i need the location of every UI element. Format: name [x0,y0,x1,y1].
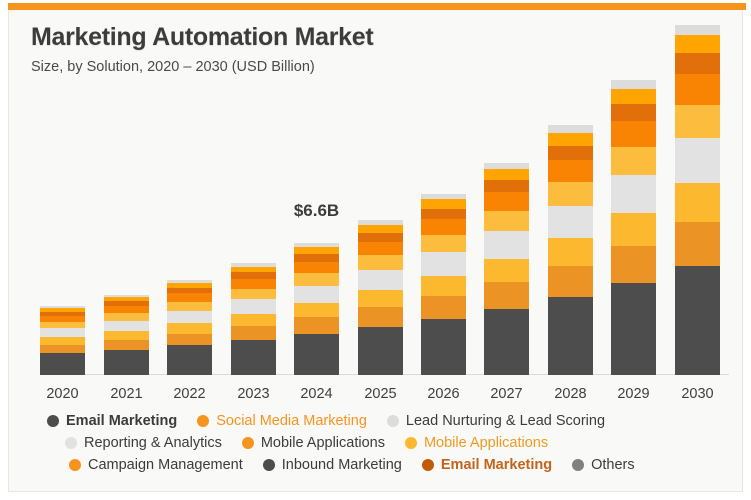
bar-segment[interactable] [484,309,529,375]
bar-segment[interactable] [484,192,529,211]
legend-marker-icon [387,415,399,427]
legend-item[interactable]: Email Marketing [422,458,552,473]
bar-segment[interactable] [167,311,212,323]
bar-2024[interactable] [294,243,339,375]
bar-segment[interactable] [294,273,339,285]
bar-segment[interactable] [167,293,212,301]
bar-segment[interactable] [611,104,656,121]
bar-segment[interactable] [548,238,593,265]
x-axis-tick-2022: 2022 [167,386,212,402]
chart-card: Marketing Automation Market Size, by Sol… [8,10,743,492]
bar-segment[interactable] [358,270,403,290]
chart-legend: Email MarketingSocial Media MarketingLea… [31,410,731,476]
legend-label: Social Media Marketing [216,414,367,429]
legend-item[interactable]: Inbound Marketing [263,458,402,473]
bar-segment[interactable] [611,213,656,245]
bar-segment[interactable] [40,328,85,337]
bar-segment[interactable] [675,105,720,138]
legend-row: Campaign ManagementInbound MarketingEmai… [31,454,731,476]
legend-row: Reporting & AnalyticsMobile Applications… [31,432,731,454]
bar-segment[interactable] [104,313,149,321]
legend-marker-icon [405,437,417,449]
bar-segment[interactable] [358,242,403,256]
bar-segment[interactable] [548,206,593,239]
bar-2030[interactable] [675,25,720,375]
legend-label: Campaign Management [88,458,243,473]
legend-item[interactable]: Social Media Marketing [197,414,367,429]
bar-segment[interactable] [548,266,593,297]
bar-segment[interactable] [231,340,276,375]
chart-card-frame: Marketing Automation Market Size, by Sol… [0,0,751,500]
chart-header: Marketing Automation Market Size, by Sol… [31,24,721,76]
bar-segment[interactable] [421,319,466,375]
x-axis-tick-2030: 2030 [675,386,720,402]
plot-area: $6.6B [31,92,729,384]
legend-label: Reporting & Analytics [84,436,222,451]
bar-segment[interactable] [611,246,656,283]
bar-segment[interactable] [548,146,593,160]
bar-2022[interactable] [167,280,212,375]
bar-segment[interactable] [548,133,593,146]
bar-segment[interactable] [611,147,656,175]
bar-segment[interactable] [167,345,212,375]
bar-segment[interactable] [167,334,212,346]
legend-item[interactable]: Others [572,458,635,473]
x-axis-tick-2028: 2028 [548,386,593,402]
bar-segment[interactable] [358,290,403,307]
legend-marker-icon [47,415,59,427]
bar-segment[interactable] [421,199,466,208]
legend-item[interactable]: Campaign Management [69,458,243,473]
bar-segment[interactable] [675,74,720,105]
bar-segment[interactable] [40,353,85,375]
bar-segment[interactable] [104,350,149,375]
bar-segment[interactable] [675,222,720,266]
bar-segment[interactable] [675,266,720,375]
bar-segment[interactable] [484,211,529,231]
bar-segment[interactable] [294,317,339,334]
bar-segment[interactable] [611,175,656,214]
bar-segment[interactable] [548,160,593,182]
legend-label: Others [591,458,635,473]
legend-marker-icon [572,459,584,471]
top-accent-bar [8,3,746,10]
bar-segment[interactable] [294,247,339,254]
bar-segment[interactable] [358,307,403,326]
x-axis-tick-2020: 2020 [40,386,85,402]
bar-segment[interactable] [104,321,149,331]
bar-segment[interactable] [675,35,720,53]
bar-segment[interactable] [421,219,466,235]
value-annotation: $6.6B [278,201,355,221]
bar-2029[interactable] [611,80,656,375]
bar-segment[interactable] [294,286,339,303]
x-axis-tick-2024: 2024 [294,386,339,402]
bar-segment[interactable] [675,25,720,36]
x-axis-tick-2029: 2029 [611,386,656,402]
bar-2028[interactable] [548,125,593,375]
bar-segment[interactable] [548,182,593,205]
bar-segment[interactable] [104,331,149,340]
legend-marker-icon [197,415,209,427]
x-axis-tick-2027: 2027 [484,386,529,402]
bar-segment[interactable] [611,121,656,147]
bar-segment[interactable] [548,297,593,375]
x-axis-tick-2021: 2021 [104,386,149,402]
bar-segment[interactable] [294,303,339,318]
bar-segment[interactable] [484,259,529,282]
bar-segment[interactable] [231,314,276,326]
legend-marker-icon [242,437,254,449]
legend-item[interactable]: Reporting & Analytics [65,436,222,451]
bar-2021[interactable] [104,295,149,375]
bar-segment[interactable] [358,225,403,233]
legend-label: Email Marketing [441,458,552,473]
bar-segment[interactable] [421,276,466,296]
legend-label: Email Marketing [66,414,177,429]
legend-label: Mobile Applications [261,436,385,451]
bar-segment[interactable] [167,302,212,311]
bar-2023[interactable] [231,263,276,375]
bar-segment[interactable] [484,169,529,180]
x-axis-tick-2026: 2026 [421,386,466,402]
bar-segment[interactable] [231,299,276,314]
bar-segment[interactable] [611,283,656,375]
bar-segment[interactable] [104,340,149,350]
bar-2020[interactable] [40,306,85,375]
legend-label: Mobile Applications [424,436,548,451]
x-axis-tick-2025: 2025 [358,386,403,402]
legend-marker-icon [263,459,275,471]
bar-segment[interactable] [611,89,656,104]
bar-segment[interactable] [167,323,212,333]
bar-2025[interactable] [358,220,403,375]
bar-segment[interactable] [421,252,466,276]
legend-row: Email MarketingSocial Media MarketingLea… [31,410,731,432]
bar-segment[interactable] [231,279,276,289]
bar-segment[interactable] [675,183,720,221]
bar-segment[interactable] [484,231,529,259]
bar-segment[interactable] [484,180,529,192]
bar-segment[interactable] [421,235,466,252]
bar-segment[interactable] [358,327,403,375]
legend-marker-icon [422,459,434,471]
bar-segment[interactable] [675,53,720,73]
legend-item[interactable]: Email Marketing [47,414,177,429]
legend-marker-icon [65,437,77,449]
bar-segment[interactable] [104,306,149,313]
legend-label: Lead Nurturing & Lead Scoring [406,414,605,429]
bar-segment[interactable] [294,334,339,375]
legend-item[interactable]: Mobile Applications [242,436,385,451]
legend-item[interactable]: Lead Nurturing & Lead Scoring [387,414,605,429]
legend-label: Inbound Marketing [282,458,402,473]
chart-subtitle: Size, by Solution, 2020 – 2030 (USD Bill… [31,59,721,76]
bar-segment[interactable] [611,80,656,89]
bar-segment[interactable] [231,289,276,300]
bar-segment[interactable] [358,233,403,242]
bar-2026[interactable] [421,194,466,375]
bar-segment[interactable] [40,345,85,354]
bar-segment[interactable] [358,255,403,270]
bar-segment[interactable] [294,262,339,274]
bar-segment[interactable] [40,337,85,345]
bar-segment[interactable] [421,209,466,219]
x-axis-tick-2023: 2023 [231,386,276,402]
page-title: Marketing Automation Market [31,24,721,52]
legend-marker-icon [69,459,81,471]
bar-segment[interactable] [548,125,593,133]
bar-segment[interactable] [484,282,529,309]
bar-segment[interactable] [421,296,466,319]
legend-item[interactable]: Mobile Applications [405,436,548,451]
bar-2027[interactable] [484,163,529,375]
bar-segment[interactable] [675,138,720,184]
bar-segment[interactable] [231,326,276,340]
bar-segment[interactable] [294,254,339,262]
x-axis-labels: 2020202120222023202420252026202720282029… [31,386,729,408]
